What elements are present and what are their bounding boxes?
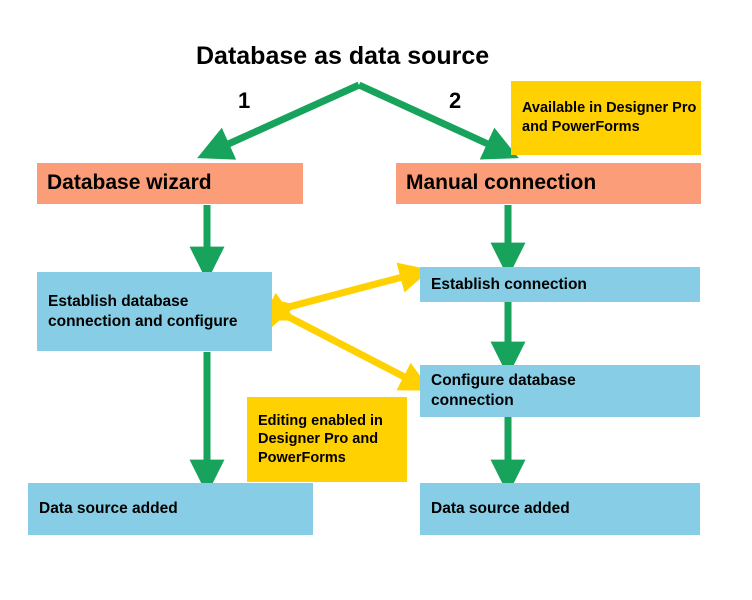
node-label: Database wizard <box>47 170 303 197</box>
page-title: Database as data source <box>196 42 489 71</box>
note-line: Designer Pro and <box>258 430 407 449</box>
green-branch-arrow-right <box>359 85 501 150</box>
node-data-source-added-left: Data source added <box>28 483 313 535</box>
note-line: Editing enabled in <box>258 412 407 431</box>
node-label: Manual connection <box>406 170 701 197</box>
node-label: Data source added <box>431 499 700 519</box>
note-line: and PowerForms <box>522 118 701 137</box>
node-label: Establish database <box>48 292 272 312</box>
branch-label-1: 1 <box>238 88 250 114</box>
node-label: Establish connection <box>431 275 700 295</box>
diagram-canvas: Database as data source 1 2 Available in… <box>0 0 752 600</box>
yellow-link-arrow-to-configure-connection <box>281 313 416 383</box>
node-database-wizard: Database wizard <box>37 163 303 204</box>
node-label: connection <box>431 391 700 411</box>
note-editing-enabled-in-designer-pro: Editing enabled in Designer Pro and Powe… <box>247 397 407 482</box>
green-branch-arrow-left <box>215 85 359 150</box>
note-line: Available in Designer Pro <box>522 99 701 118</box>
branch-label-2: 2 <box>449 88 461 114</box>
note-line: PowerForms <box>258 449 407 468</box>
node-establish-database-connection-and-configure: Establish database connection and config… <box>37 272 272 351</box>
node-establish-connection: Establish connection <box>420 267 700 302</box>
node-configure-database-connection: Configure database connection <box>420 365 700 417</box>
node-label: Data source added <box>39 499 313 519</box>
node-data-source-added-right: Data source added <box>420 483 700 535</box>
yellow-link-arrow-to-establish-connection <box>281 274 414 309</box>
note-available-in-designer-pro: Available in Designer Pro and PowerForms <box>511 81 701 155</box>
node-label: connection and configure <box>48 312 272 332</box>
node-label: Configure database <box>431 371 700 391</box>
node-manual-connection: Manual connection <box>396 163 701 204</box>
